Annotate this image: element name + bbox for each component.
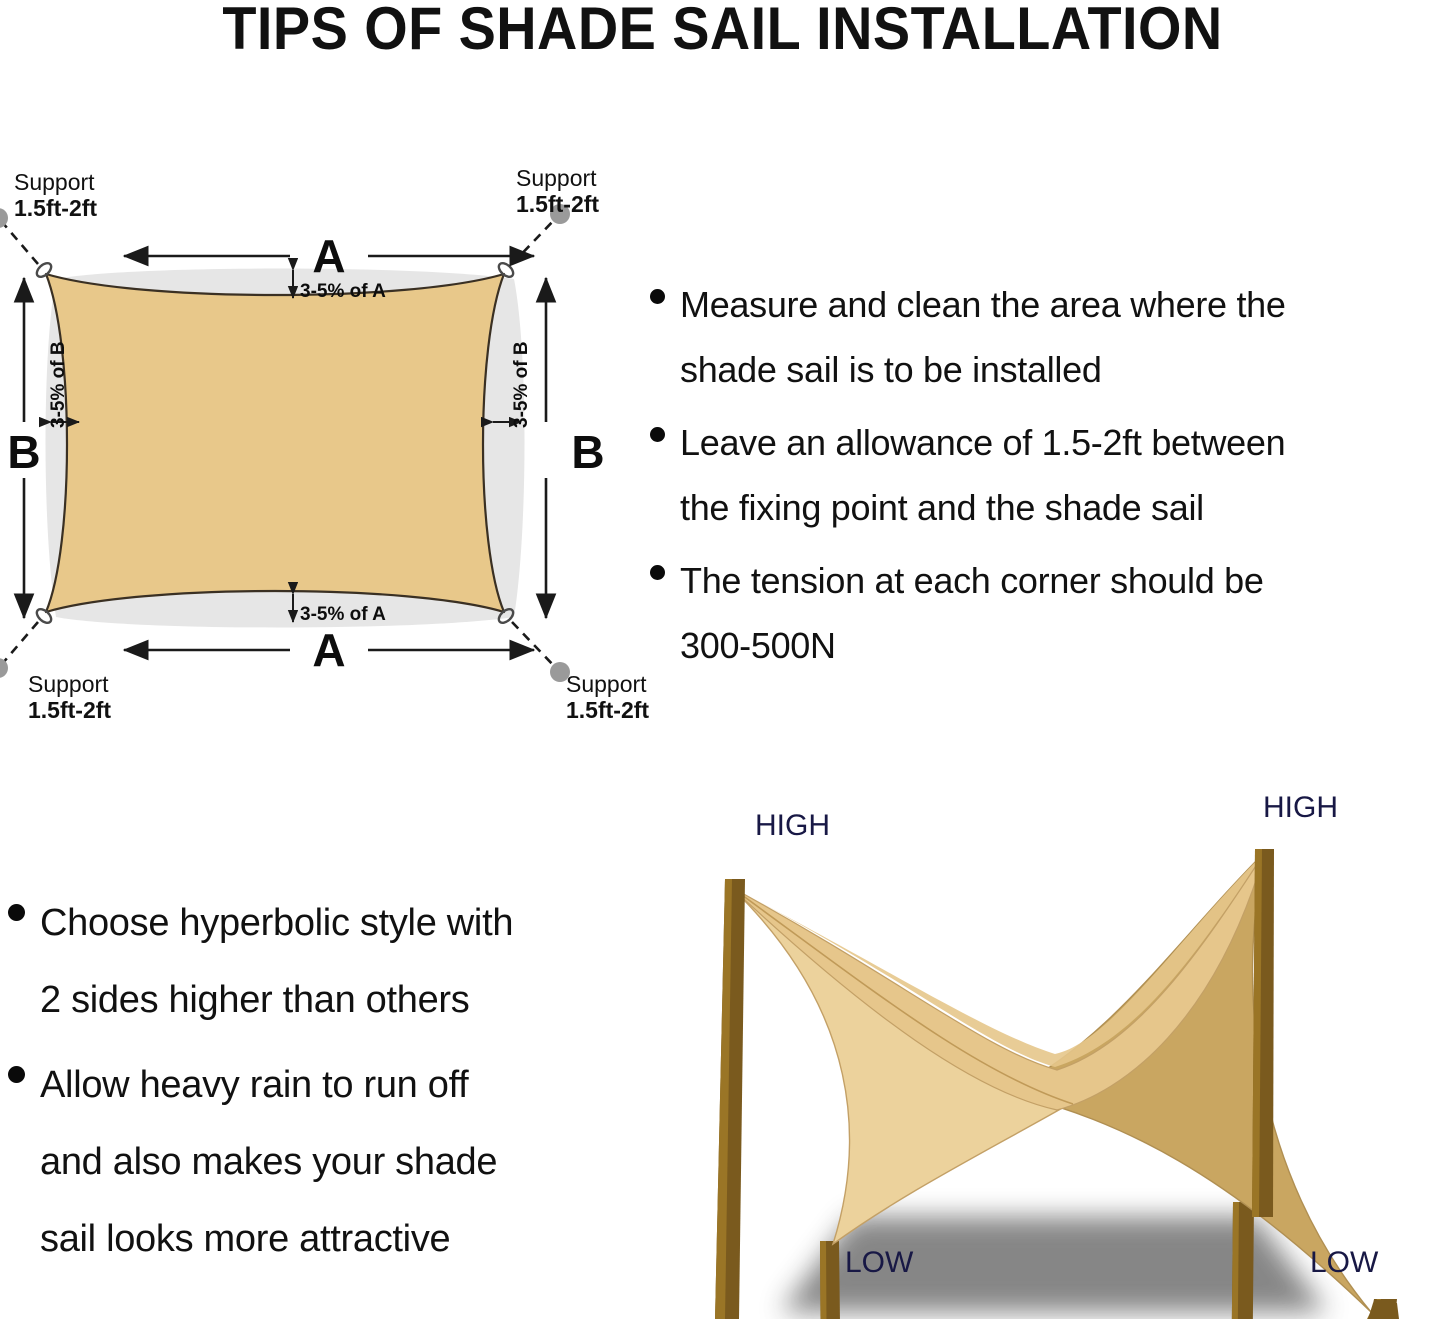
support-label-line1: Support	[28, 671, 109, 697]
list-item-text: Leave an allowance of 1.5-2ft between th…	[680, 410, 1285, 540]
list-item-text: Allow heavy rain to run off and also mak…	[40, 1047, 497, 1278]
list-item-line2: and also makes your shade	[40, 1141, 497, 1183]
list-item-line2: shade sail is to be installed	[680, 349, 1102, 390]
list-item-line1: Choose hyperbolic style with	[40, 902, 513, 944]
tolerance-b-right-label: 3-5% of B	[511, 341, 532, 428]
label-low-right: LOW	[1310, 1246, 1379, 1279]
hyperbolic-style-list: Choose hyperbolic style with 2 sides hig…	[8, 885, 648, 1286]
support-label-bottom-left: Support 1.5ft-2ft	[28, 671, 111, 723]
list-item-text: Measure and clean the area where the sha…	[680, 272, 1286, 402]
list-item-text: The tension at each corner should be 300…	[680, 548, 1264, 678]
hyperbolic-diagram-container: HIGH HIGH LOW LOW	[655, 792, 1445, 1319]
installation-tips-list: Measure and clean the area where the sha…	[650, 272, 1445, 686]
post-low-left	[820, 1241, 841, 1319]
tolerance-a-top-label: 3-5% of A	[300, 281, 386, 302]
list-item: Choose hyperbolic style with 2 sides hig…	[8, 885, 648, 1039]
bullet-dot-icon	[650, 565, 665, 580]
support-dot-top-left	[0, 208, 8, 228]
bullet-dot-icon	[8, 904, 25, 921]
list-item-line1: Measure and clean the area where the	[680, 284, 1286, 325]
list-item-line1: Leave an allowance of 1.5-2ft between	[680, 422, 1285, 463]
support-label-line1: Support	[566, 671, 647, 697]
list-item: Measure and clean the area where the sha…	[650, 272, 1445, 402]
infographic-page: TIPS OF SHADE SAIL INSTALLATION	[0, 0, 1445, 1319]
support-label-bottom-right: Support 1.5ft-2ft	[566, 671, 649, 723]
bullet-dot-icon	[650, 427, 665, 442]
tolerance-b-left-label: 3-5% of B	[48, 341, 69, 428]
list-item-line1: The tension at each corner should be	[680, 560, 1264, 601]
support-label-line2: 1.5ft-2ft	[516, 191, 599, 217]
list-item: The tension at each corner should be 300…	[650, 548, 1445, 678]
list-item-line2: 300-500N	[680, 625, 836, 666]
tolerance-a-bottom-label: 3-5% of A	[300, 604, 386, 625]
bullet-dot-icon	[8, 1066, 25, 1083]
dim-a-bottom-label: A	[312, 624, 345, 676]
list-item: Allow heavy rain to run off and also mak…	[8, 1047, 648, 1278]
support-label-line1: Support	[14, 169, 95, 195]
dimension-b-left: B	[7, 278, 40, 618]
bullet-dot-icon	[650, 289, 665, 304]
label-high-left: HIGH	[755, 809, 830, 842]
list-item-line1: Allow heavy rain to run off	[40, 1064, 468, 1106]
shade-sail-shape	[46, 274, 504, 612]
support-dot-bottom-left	[0, 658, 8, 678]
dimension-b-right: B	[546, 278, 605, 618]
top-diagram-container: A 3-5% of A A 3-5% of A B	[0, 160, 660, 730]
support-label-line2: 1.5ft-2ft	[566, 697, 649, 723]
support-label-line1: Support	[516, 165, 597, 191]
support-label-top-left: Support 1.5ft-2ft	[14, 169, 97, 221]
list-item-line2: 2 sides higher than others	[40, 979, 469, 1021]
list-item: Leave an allowance of 1.5-2ft between th…	[650, 410, 1445, 540]
list-item-text: Choose hyperbolic style with 2 sides hig…	[40, 885, 513, 1039]
post-low-right-inner	[1231, 1202, 1254, 1319]
support-label-line2: 1.5ft-2ft	[28, 697, 111, 723]
post-high-left	[715, 879, 745, 1319]
support-label-top-right: Support 1.5ft-2ft	[516, 165, 599, 217]
label-high-right: HIGH	[1263, 792, 1338, 824]
list-item-line2: the fixing point and the shade sail	[680, 487, 1204, 528]
label-low-left: LOW	[845, 1246, 914, 1279]
list-item-line3: sail looks more attractive	[40, 1218, 450, 1260]
dim-a-top-label: A	[312, 230, 345, 282]
post-high-right	[1252, 849, 1274, 1217]
dim-b-right-label: B	[571, 426, 604, 478]
page-title: TIPS OF SHADE SAIL INSTALLATION	[51, 0, 1395, 63]
dim-b-left-label: B	[7, 426, 40, 478]
dimension-a-bottom: A	[124, 624, 534, 676]
support-label-line2: 1.5ft-2ft	[14, 195, 97, 221]
